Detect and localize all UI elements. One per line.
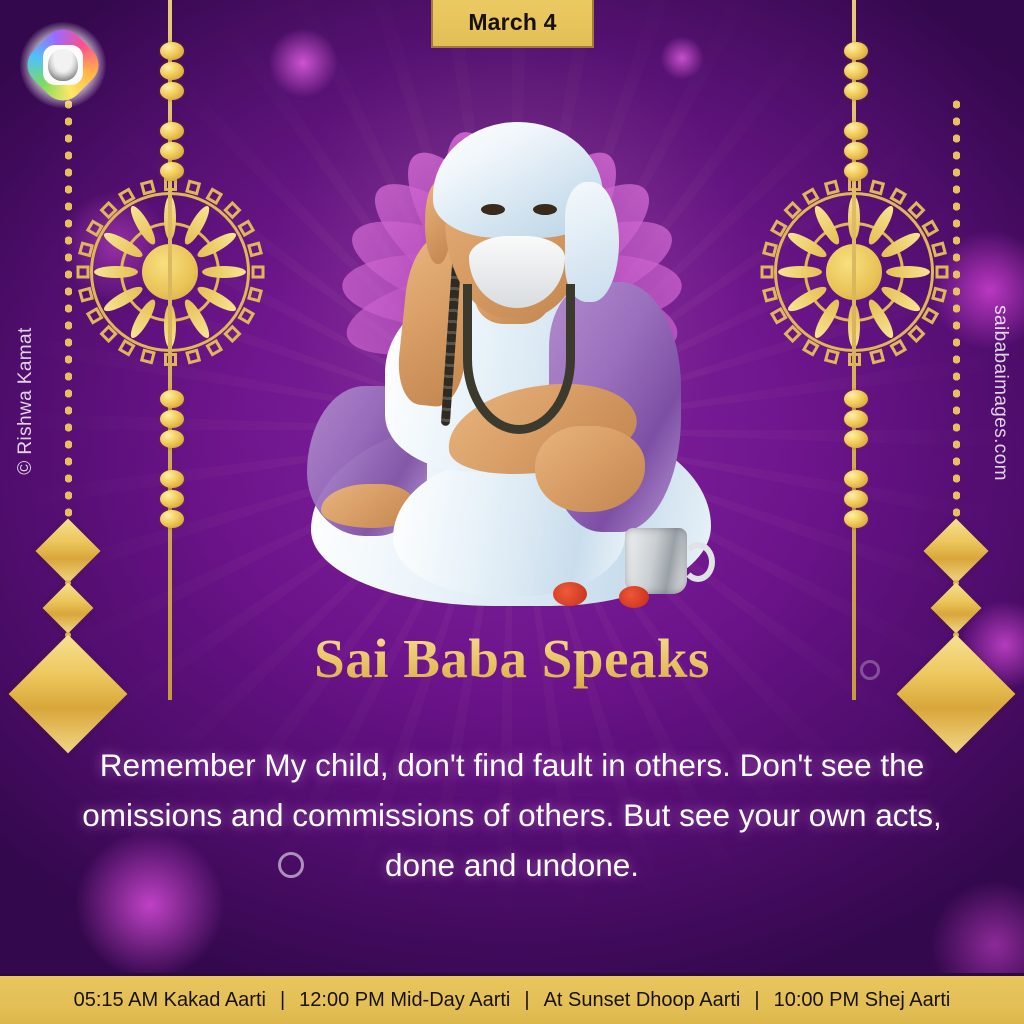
gold-bead [844,390,868,408]
aarti-timings-bar: 05:15 AM Kakad Aarti|12:00 PM Mid-Day Aa… [0,973,1024,1024]
aarti-timing-item: At Sunset Dhoop Aarti [544,989,741,1012]
right-eye [533,204,557,215]
gold-bead [160,42,184,60]
gold-bead [160,142,184,160]
aarti-timing-item: 05:15 AM Kakad Aarti [74,989,266,1012]
mandala-diamond-tile [936,266,949,279]
quote-text: Remember My child, don't find fault in o… [52,740,972,890]
gold-bead [160,82,184,100]
gold-bead [844,490,868,508]
timing-separator: | [740,989,773,1012]
mandala-diamond-tile [252,266,265,279]
flower-offering [553,582,587,606]
mandala-diamond-tile [185,349,201,365]
gold-bead [160,470,184,488]
timing-separator: | [510,989,543,1012]
gold-bead [844,510,868,528]
gold-bead [160,490,184,508]
date-banner-label: March 4 [468,9,556,36]
gold-bead [160,122,184,140]
page-title: Sai Baba Speaks [0,627,1024,690]
gold-bead [160,390,184,408]
gold-bead [160,162,184,180]
gold-bead [844,142,868,160]
dotted-ornament-line [65,96,72,526]
gold-diamond-pendant [35,518,100,583]
vessel-handle [681,542,715,582]
aarti-timing-item: 12:00 PM Mid-Day Aarti [299,989,510,1012]
aarti-timing-item: 10:00 PM Shej Aarti [774,989,951,1012]
watermark-left: © Rishwa Kamat [15,291,37,511]
mandala-diamond-tile [931,287,947,303]
gold-bead [844,410,868,428]
hands [535,426,645,512]
watermark-right: saibabaimages.com [989,283,1011,503]
mandala-diamond-tile [140,349,156,365]
mandala-diamond-tile [77,266,90,279]
mandala-petal [202,266,246,278]
mandala-diamond-tile [931,241,947,257]
mandala-petal [94,266,138,278]
mandala-petal [778,266,822,278]
gold-diamond-pendant [43,583,94,634]
kamandalu-vessel [625,528,687,594]
gold-bead [844,162,868,180]
gold-bead [160,410,184,428]
mala-necklace [463,284,575,434]
glow-spot [660,36,704,80]
logo-face-icon [48,49,78,81]
gold-bead [844,42,868,60]
mandala-diamond-tile [247,287,263,303]
gold-diamond-pendant [923,518,988,583]
gold-diamond-pendant [931,583,982,634]
sai-baba-logo[interactable] [20,22,106,108]
gold-bead [844,470,868,488]
gold-bead [844,82,868,100]
left-eye [481,204,505,215]
date-banner: March 4 [431,0,594,48]
gold-bead [844,122,868,140]
bead-chain [168,0,172,700]
gold-bead [844,62,868,80]
gold-bead [844,430,868,448]
mandala-diamond-tile [824,349,840,365]
sai-baba-figure [297,86,727,626]
gold-bead [160,430,184,448]
flower-offering [619,586,649,608]
mandala-petal [886,266,930,278]
bead-chain [852,0,856,700]
mandala-diamond-tile [761,266,774,279]
mandala-diamond-tile [247,241,263,257]
poster-canvas: March 4 © Rishwa Kamat saibabaimages.com… [0,0,1024,1024]
gold-bead [160,62,184,80]
gold-bead [160,510,184,528]
timing-separator: | [266,989,299,1012]
logo-portrait [43,45,83,85]
dotted-ornament-line [953,96,960,526]
mandala-diamond-tile [869,349,885,365]
